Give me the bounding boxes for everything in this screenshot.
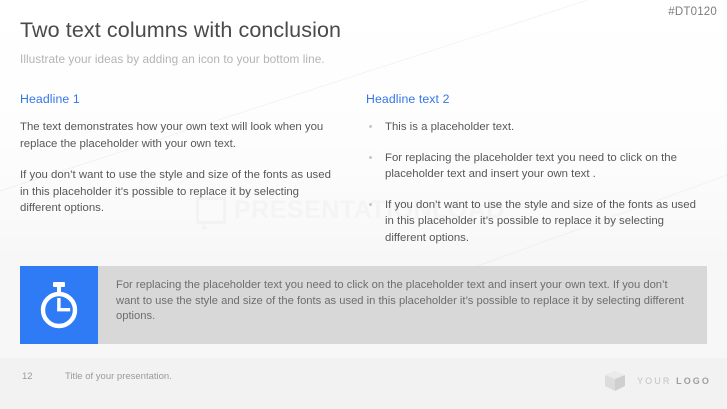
page-title: Two text columns with conclusion	[20, 18, 341, 43]
conclusion-text[interactable]: For replacing the placeholder text you n…	[98, 266, 707, 344]
slide-code: #DT0120	[668, 6, 717, 18]
slide-canvas: PRESENTATIONLOAD #DT0120 Two text column…	[0, 0, 727, 409]
footer-logo[interactable]: YOUR LOGO	[602, 368, 711, 394]
bullet-dot-icon	[369, 125, 372, 128]
left-column-paragraph-2[interactable]: If you don’t want to use the style and s…	[20, 167, 333, 217]
left-column-headline: Headline 1	[20, 92, 333, 106]
conclusion-icon-tile[interactable]	[20, 266, 98, 344]
page-subtitle: Illustrate your ideas by adding an icon …	[20, 52, 325, 66]
conclusion-box: For replacing the placeholder text you n…	[20, 266, 707, 344]
right-text-column: Headline text 2 This is a placeholder te…	[366, 92, 696, 247]
left-text-column: Headline 1 The text demonstrates how you…	[20, 92, 333, 217]
bullet-dot-icon	[369, 203, 372, 206]
footer-logo-text-bold: LOGO	[676, 376, 711, 386]
cube-logo-icon	[602, 368, 628, 394]
stopwatch-icon	[36, 280, 82, 330]
list-item-label: For replacing the placeholder text you n…	[385, 152, 677, 181]
footer-logo-text-light: YOUR	[637, 376, 676, 386]
left-column-paragraph-1[interactable]: The text demonstrates how your own text …	[20, 119, 333, 152]
list-item[interactable]: This is a placeholder text.	[366, 119, 696, 136]
footer-page-number: 12	[22, 371, 33, 382]
list-item-label: This is a placeholder text.	[385, 121, 514, 133]
list-item[interactable]: If you don’t want to use the style and s…	[366, 197, 696, 247]
right-column-headline: Headline text 2	[366, 92, 696, 106]
footer-logo-text: YOUR LOGO	[637, 376, 711, 386]
bullet-dot-icon	[369, 156, 372, 159]
list-item-label: If you don’t want to use the style and s…	[385, 199, 696, 244]
list-item[interactable]: For replacing the placeholder text you n…	[366, 150, 696, 183]
footer-presentation-title: Title of your presentation.	[65, 371, 172, 382]
right-column-bullet-list: This is a placeholder text. For replacin…	[366, 119, 696, 247]
